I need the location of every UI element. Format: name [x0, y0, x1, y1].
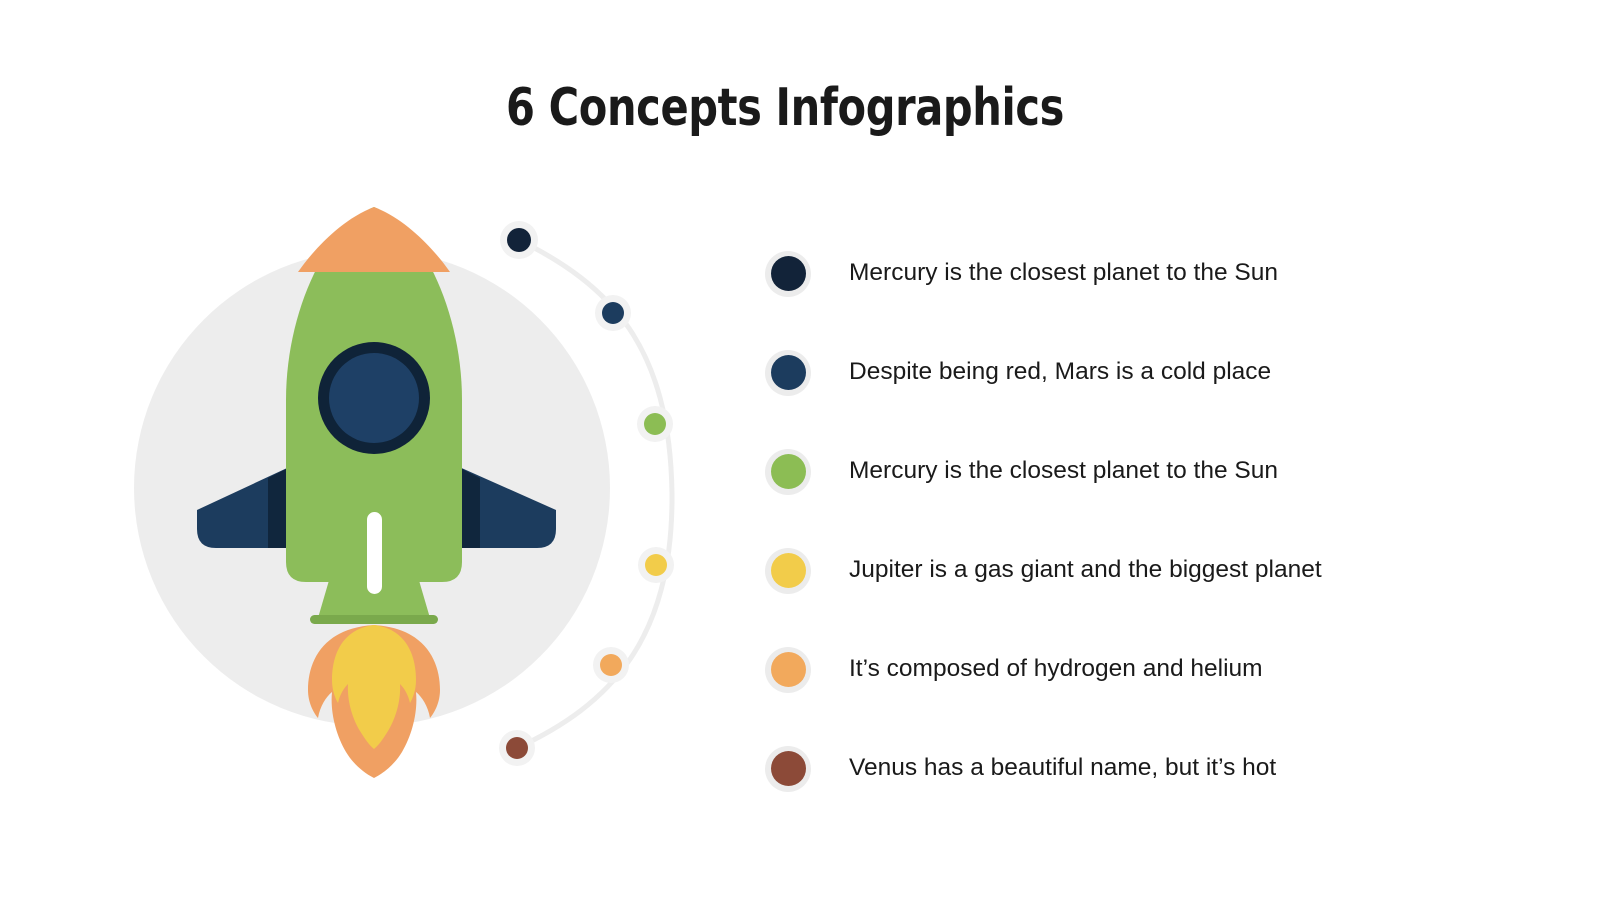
legend-item-label: It’s composed of hydrogen and helium [849, 656, 1263, 683]
legend-bullet-4 [765, 548, 811, 594]
list-item[interactable]: Venus has a beautiful name, but it’s hot [765, 719, 1585, 818]
legend-item-label: Venus has a beautiful name, but it’s hot [849, 755, 1276, 782]
list-item[interactable]: Jupiter is a gas giant and the biggest p… [765, 521, 1585, 620]
bullet-dot-icon [771, 256, 806, 291]
rocket-nose-cone [298, 207, 450, 272]
rocket-stripe [367, 512, 382, 594]
orbit-dot-6[interactable] [506, 737, 528, 759]
bullet-dot-icon [771, 454, 806, 489]
bullet-dot-icon [771, 652, 806, 687]
legend-item-label: Mercury is the closest planet to the Sun [849, 458, 1278, 485]
rocket-nozzle-rim [310, 615, 438, 624]
bullet-dot-icon [771, 355, 806, 390]
legend-bullet-2 [765, 350, 811, 396]
orbit-dot-4[interactable] [645, 554, 667, 576]
orbit-dot-3[interactable] [644, 413, 666, 435]
rocket-illustration [0, 0, 760, 900]
list-item[interactable]: Mercury is the closest planet to the Sun [765, 422, 1585, 521]
orbit-dot-5[interactable] [600, 654, 622, 676]
legend-bullet-5 [765, 647, 811, 693]
list-item[interactable]: Despite being red, Mars is a cold place [765, 323, 1585, 422]
bullet-dot-icon [771, 553, 806, 588]
rocket-window-inner [329, 353, 419, 443]
legend-bullet-3 [765, 449, 811, 495]
bullet-dot-icon [771, 751, 806, 786]
list-item[interactable]: Mercury is the closest planet to the Sun [765, 224, 1585, 323]
legend-list: Mercury is the closest planet to the Sun… [765, 224, 1585, 818]
legend-bullet-6 [765, 746, 811, 792]
orbit-dot-1[interactable] [507, 228, 531, 252]
legend-item-label: Jupiter is a gas giant and the biggest p… [849, 557, 1322, 584]
legend-item-label: Mercury is the closest planet to the Sun [849, 260, 1278, 287]
orbit-dot-2[interactable] [602, 302, 624, 324]
infographic-slide: 6 Concepts Infographics [0, 0, 1600, 900]
legend-bullet-1 [765, 251, 811, 297]
list-item[interactable]: It’s composed of hydrogen and helium [765, 620, 1585, 719]
legend-item-label: Despite being red, Mars is a cold place [849, 359, 1271, 386]
